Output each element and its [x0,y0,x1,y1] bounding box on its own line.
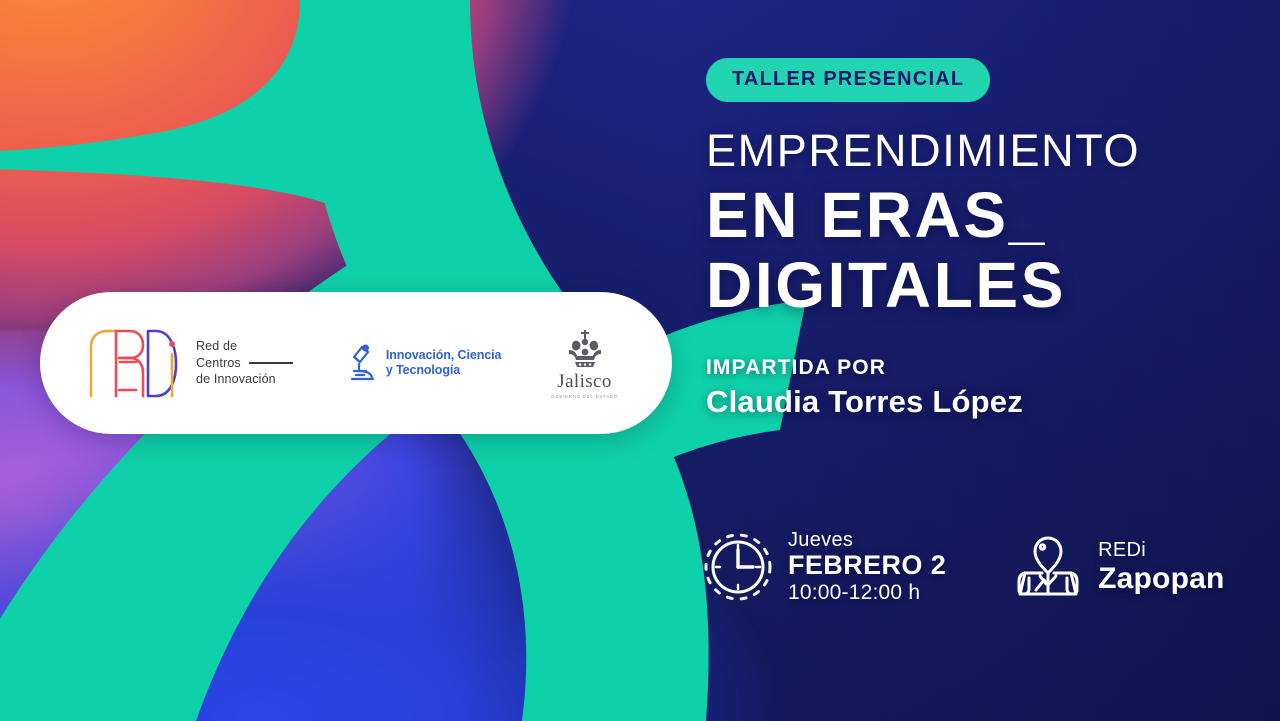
venue-text: REDi Zapopan [1098,539,1224,594]
venue-org: REDi [1098,539,1224,561]
title-line-3: DIGITALES [706,252,1226,320]
ict-logo: Innovación, Ciencia y Tecnología [347,343,502,383]
speaker-name: Claudia Torres López [706,384,1226,420]
title-bold-block: EN ERAS_ DIGITALES [706,182,1226,320]
schedule-date: FEBRERO 2 [788,551,946,581]
redi-monogram-icon [86,326,182,400]
redi-divider-rule [249,362,293,363]
venue-city: Zapopan [1098,562,1224,595]
redi-logo: Red de Centros de Innovación [86,326,293,400]
jalisco-crest-icon [562,328,608,372]
promo-poster: Red de Centros de Innovación [0,0,1280,721]
redi-text-line1: Red de [196,338,293,355]
schedule-time: 10:00-12:00 h [788,581,946,605]
event-details-row: Jueves FEBRERO 2 10:00-12:00 h [702,528,1225,606]
jalisco-logo: Jalisco GOBIERNO DEL ESTADO [551,328,618,399]
ict-text-line1: Innovación, Ciencia [386,348,502,363]
microscope-icon [347,343,377,383]
redi-text-line2: Centros [196,355,241,372]
jalisco-subtitle: GOBIERNO DEL ESTADO [551,394,618,399]
schedule-text: Jueves FEBRERO 2 10:00-12:00 h [788,529,946,605]
venue-item: REDi Zapopan [1012,528,1224,606]
ict-logo-text: Innovación, Ciencia y Tecnología [386,348,502,378]
schedule-weekday: Jueves [788,529,946,551]
workshop-badge: TALLER PRESENCIAL [706,58,990,102]
sponsor-logo-bar: Red de Centros de Innovación [40,292,672,434]
redi-text-line3: de Innovación [196,371,293,388]
clock-icon [702,528,774,606]
jalisco-name: Jalisco [557,371,612,393]
headline-column: TALLER PRESENCIAL EMPRENDIMIENTO EN ERAS… [706,58,1226,420]
redi-logo-text: Red de Centros de Innovación [196,338,293,388]
title-line-1: EMPRENDIMIENTO [706,128,1226,174]
ict-text-line2: y Tecnología [386,363,502,378]
map-location-icon [1012,528,1084,606]
schedule-item: Jueves FEBRERO 2 10:00-12:00 h [702,528,946,606]
speaker-label: IMPARTIDA POR [706,356,1226,380]
title-line-2: EN ERAS_ [706,179,1047,251]
